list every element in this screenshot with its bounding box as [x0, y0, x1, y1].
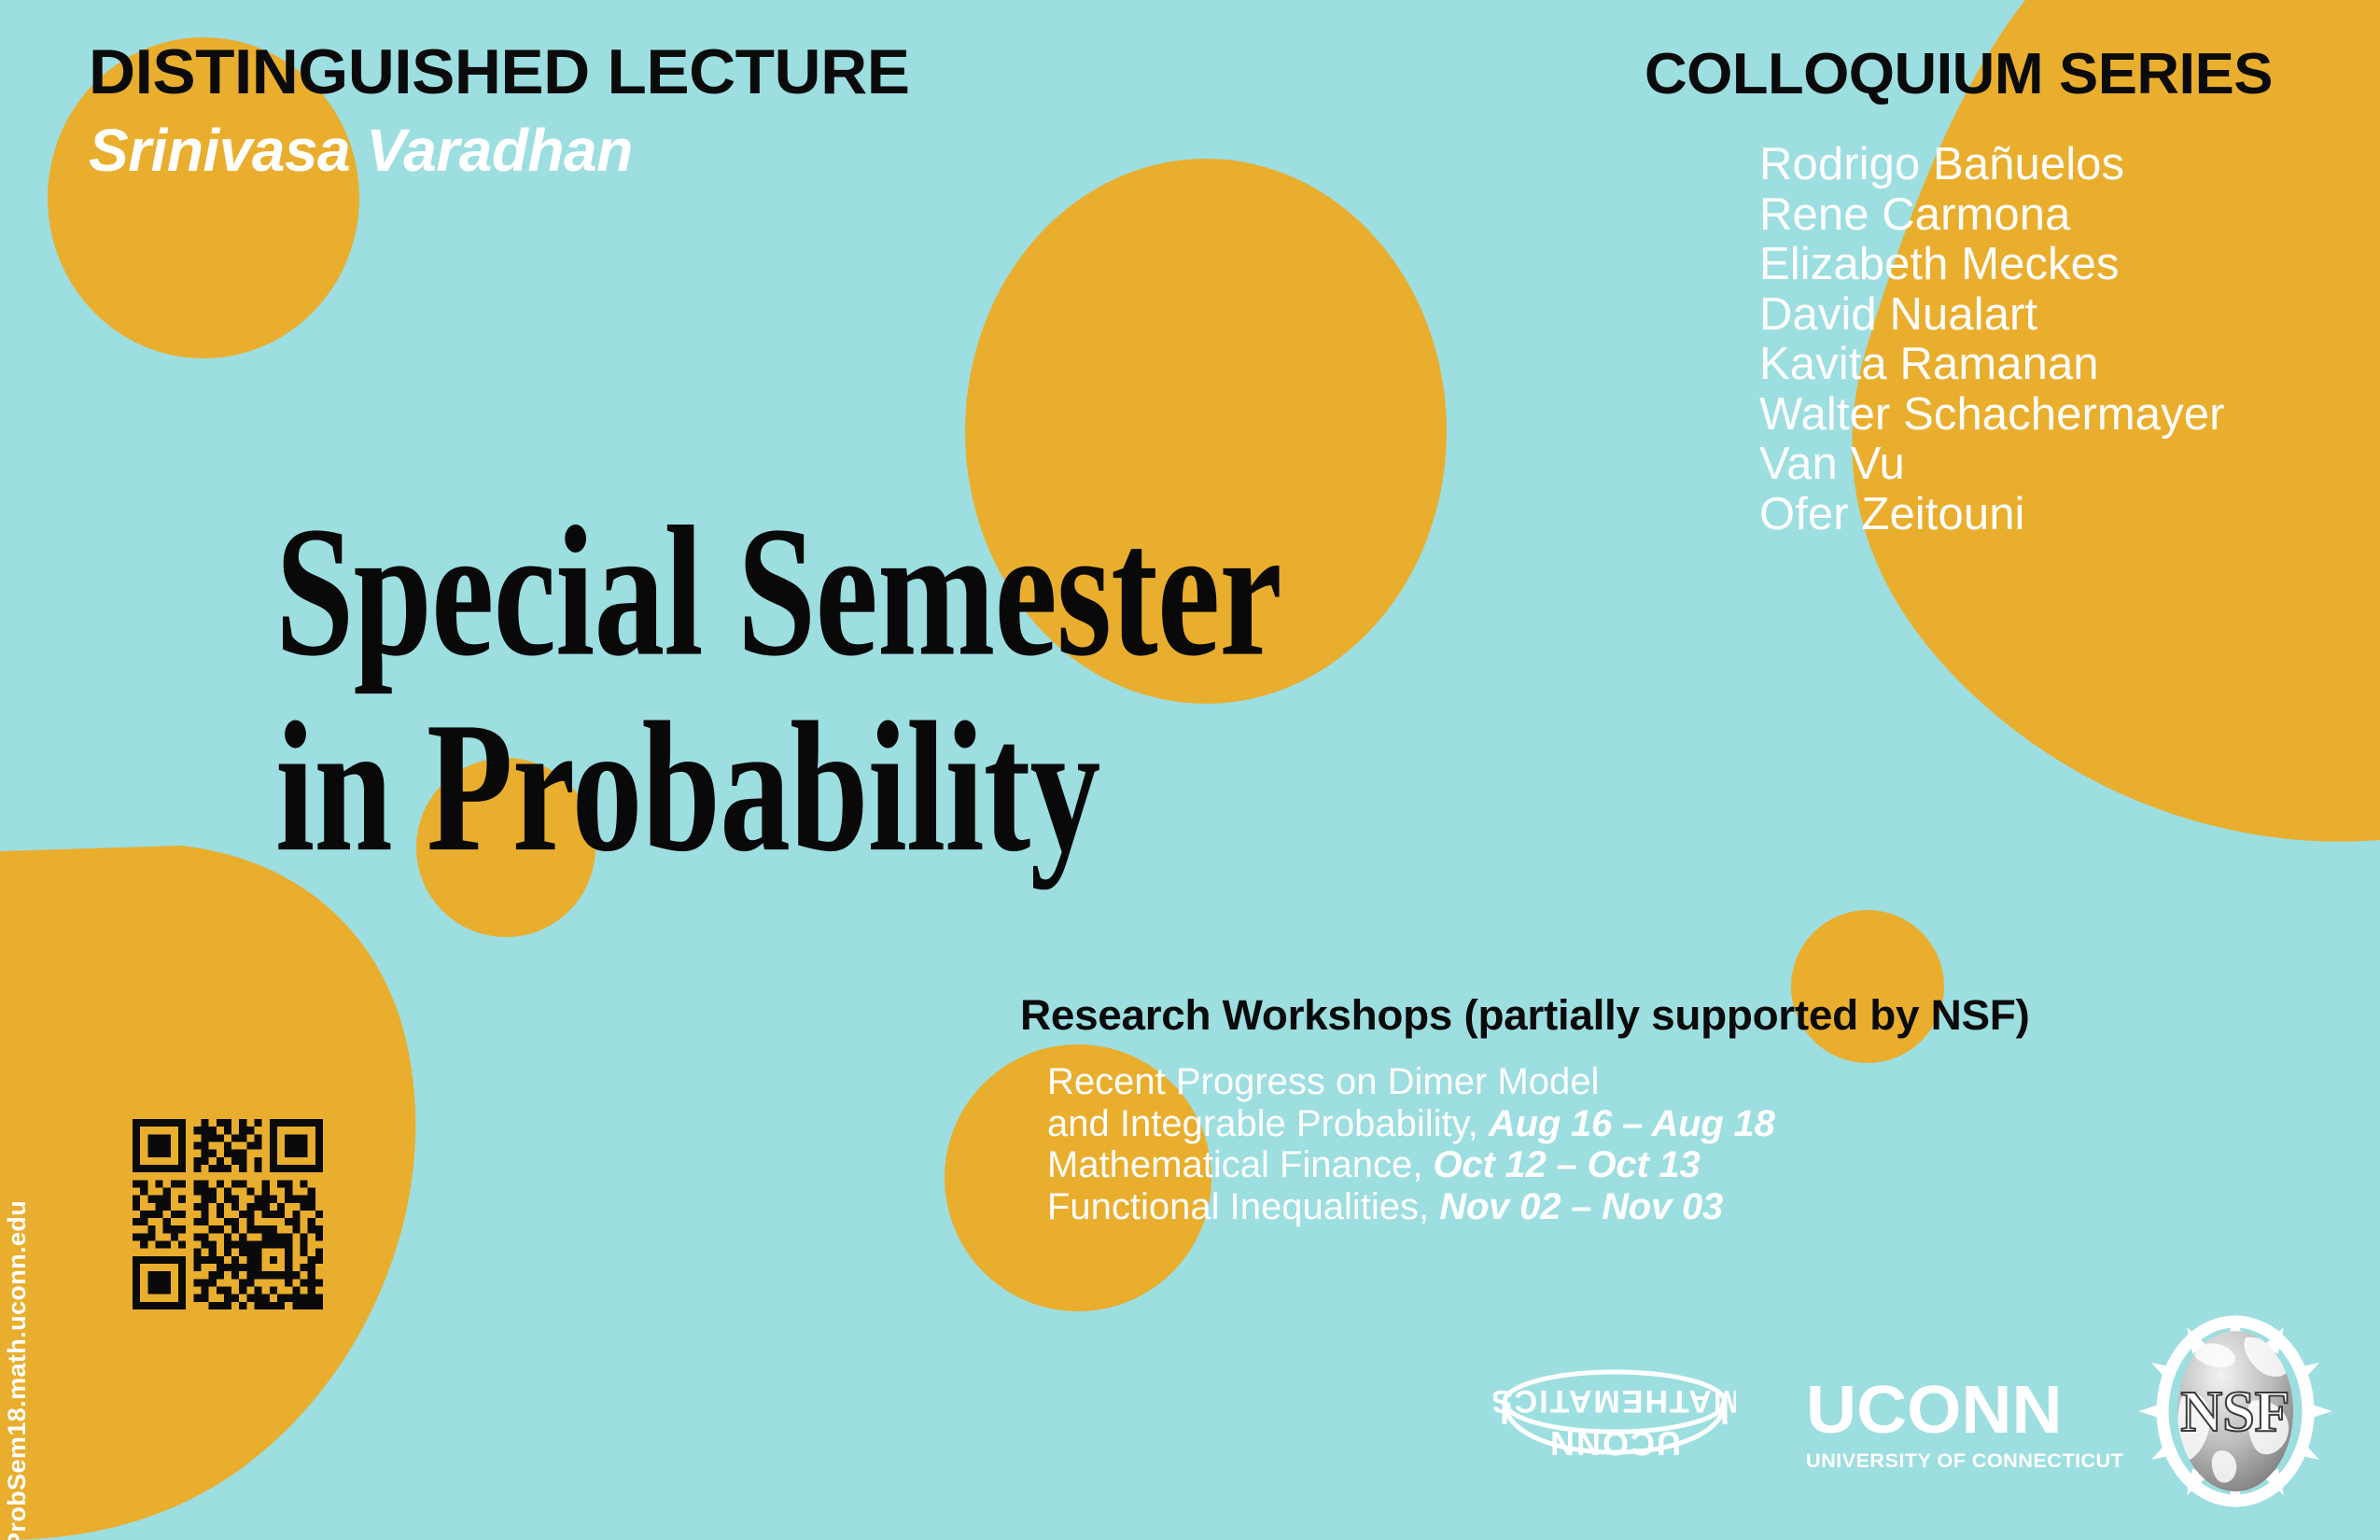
list-item: Van Vu [1759, 440, 2225, 490]
svg-text:MATHEMATICS: MATHEMATICS [1493, 1383, 1736, 1419]
research-workshops-list: Recent Progress on Dimer Model and Integ… [1047, 1061, 1775, 1227]
uconn-wordmark: UCONN UNIVERSITY OF CONNECTICUT [1806, 1377, 2086, 1479]
list-item: Functional Inequalities, Nov 02 – Nov 03 [1047, 1186, 1775, 1228]
poster-canvas: DISTINGUISHED LECTURE Srinivasa Varadhan… [0, 0, 2380, 1540]
colloquium-speaker-list: Rodrigo Bañuelos Rene Carmona Elizabeth … [1759, 140, 2225, 539]
logo-row: MATHEMATICS UCONN UCONN UNIVERSITY OF CO… [1493, 1311, 2333, 1512]
list-item: Kavita Ramanan [1759, 340, 2225, 390]
workshop-name: Mathematical Finance, [1047, 1144, 1422, 1185]
list-item: Mathematical Finance, Oct 12 – Oct 13 [1047, 1144, 1775, 1186]
workshop-dates: Aug 16 – Aug 18 [1489, 1103, 1775, 1144]
workshop-name: Recent Progress on Dimer Model [1047, 1061, 1599, 1102]
page-title-line-2: in Probability [275, 691, 1423, 887]
workshop-name: Functional Inequalities, [1047, 1186, 1429, 1227]
list-item: Ofer Zeitouni [1759, 490, 2225, 540]
sidebar-vertical-credit: UNIVERSITY OF CONNECTICUT // FALL 2018 P… [0, 999, 35, 1540]
list-item: Rene Carmona [1759, 190, 2225, 241]
svg-text:UCONN: UCONN [1548, 1424, 1681, 1463]
colloquium-series-heading: COLLOQUIUM SERIES [1645, 41, 2273, 107]
workshop-dates: Nov 02 – Nov 03 [1439, 1186, 1723, 1227]
research-workshops-heading: Research Workshops (partially supported … [1020, 991, 2030, 1040]
page-title: Special Semester in Probability [275, 495, 1423, 886]
blob-right-small-circle [1791, 910, 1944, 1063]
nsf-mark-text: NSF [2180, 1380, 2289, 1444]
qr-code[interactable] [133, 1119, 323, 1309]
uconn-mathematics-logo: MATHEMATICS UCONN [1493, 1363, 1736, 1484]
sidebar-website-line: ProbSem18.math.uconn.edu [0, 999, 35, 1540]
distinguished-lecture-speaker-name: Srinivasa Varadhan [89, 119, 633, 182]
distinguished-lecture-heading: DISTINGUISHED LECTURE [89, 39, 909, 105]
workshop-name: and Integrable Probability, [1047, 1103, 1478, 1144]
list-item: Recent Progress on Dimer Model [1047, 1061, 1775, 1103]
uconn-wordmark-sub: UNIVERSITY OF CONNECTICUT [1806, 1449, 2089, 1473]
list-item: David Nualart [1759, 290, 2225, 341]
list-item: Walter Schachermayer [1759, 390, 2225, 441]
list-item: Elizabeth Meckes [1759, 240, 2225, 290]
workshop-dates: Oct 12 – Oct 13 [1434, 1144, 1701, 1185]
list-item: Rodrigo Bañuelos [1759, 140, 2225, 190]
uconn-wordmark-main: UCONN [1806, 1377, 2097, 1444]
page-title-line-1: Special Semester [275, 495, 1423, 691]
list-item: and Integrable Probability, Aug 16 – Aug… [1047, 1103, 1775, 1145]
nsf-seal-logo: NSF [2128, 1311, 2343, 1512]
